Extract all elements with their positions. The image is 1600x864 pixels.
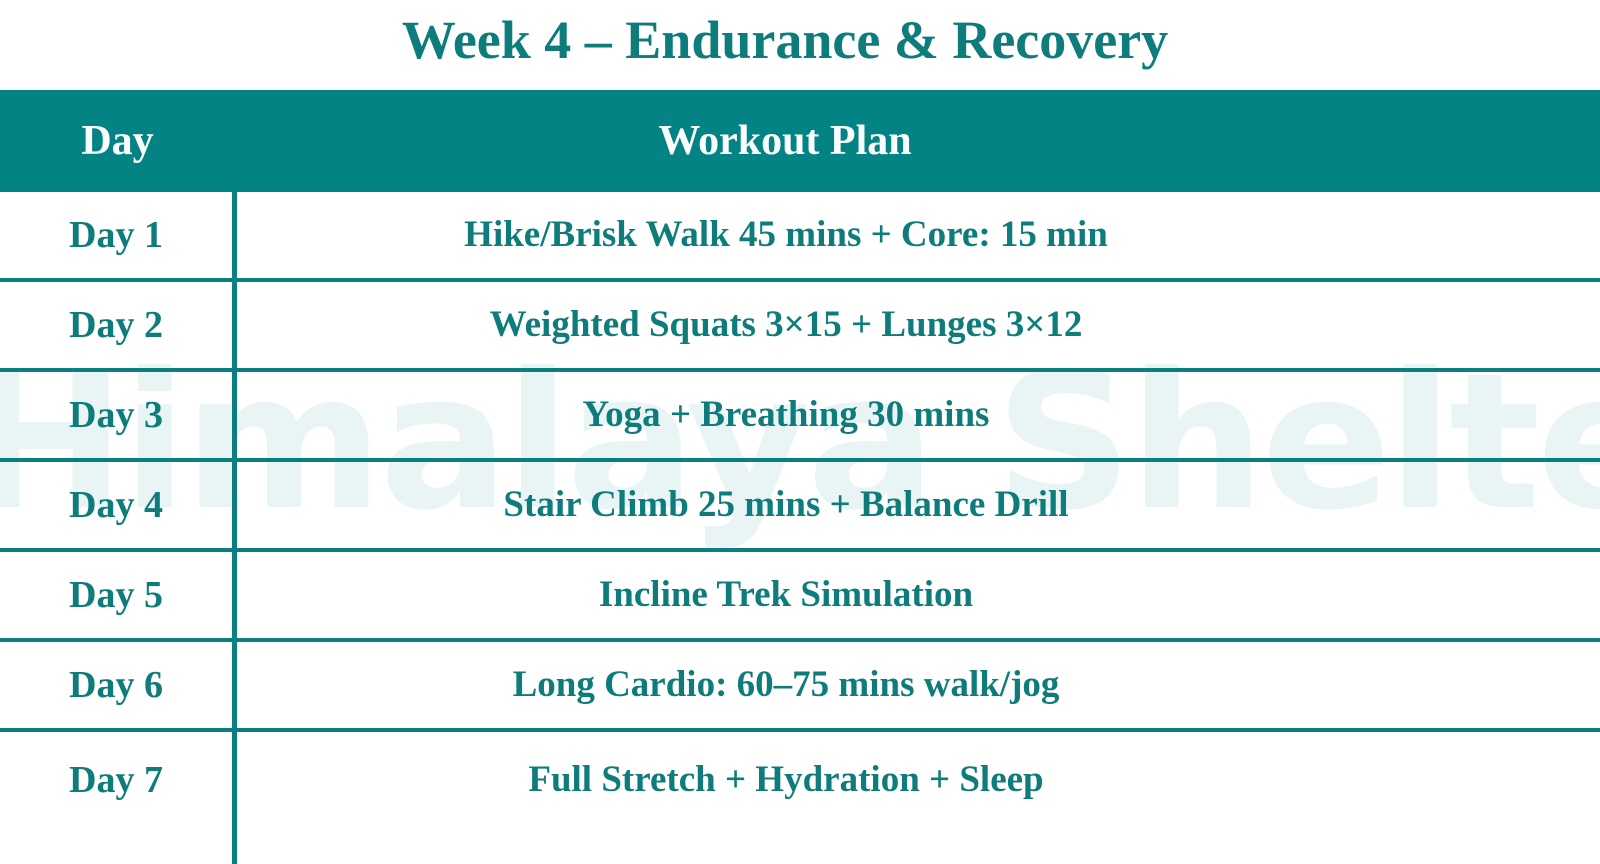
column-divider <box>232 192 237 864</box>
table-row: Day 5 Incline Trek Simulation <box>0 552 1600 642</box>
cell-workout-plan: Full Stretch + Hydration + Sleep <box>237 732 1335 828</box>
table-row: Day 4 Stair Climb 25 mins + Balance Dril… <box>0 462 1600 552</box>
cell-day: Day 6 <box>0 642 232 728</box>
cell-day: Day 7 <box>0 732 232 828</box>
column-header-workout-plan: Workout Plan <box>235 90 1335 192</box>
cell-day: Day 1 <box>0 192 232 278</box>
column-header-day: Day <box>0 90 235 192</box>
workout-plan-page: Himalaya Shelter Week 4 – Endurance & Re… <box>0 0 1600 864</box>
table-row: Day 3 Yoga + Breathing 30 mins <box>0 372 1600 462</box>
cell-workout-plan: Stair Climb 25 mins + Balance Drill <box>237 462 1335 548</box>
cell-workout-plan: Yoga + Breathing 30 mins <box>237 372 1335 458</box>
table-row: Day 7 Full Stretch + Hydration + Sleep <box>0 732 1600 828</box>
table-body: Day 1 Hike/Brisk Walk 45 mins + Core: 15… <box>0 192 1600 828</box>
cell-workout-plan: Hike/Brisk Walk 45 mins + Core: 15 min <box>237 192 1335 278</box>
cell-day: Day 4 <box>0 462 232 548</box>
cell-day: Day 3 <box>0 372 232 458</box>
table-row: Day 2 Weighted Squats 3×15 + Lunges 3×12 <box>0 282 1600 372</box>
page-title: Week 4 – Endurance & Recovery <box>0 4 1570 84</box>
cell-day: Day 2 <box>0 282 232 368</box>
cell-workout-plan: Incline Trek Simulation <box>237 552 1335 638</box>
table-row: Day 1 Hike/Brisk Walk 45 mins + Core: 15… <box>0 192 1600 282</box>
cell-workout-plan: Long Cardio: 60–75 mins walk/jog <box>237 642 1335 728</box>
cell-day: Day 5 <box>0 552 232 638</box>
cell-workout-plan: Weighted Squats 3×15 + Lunges 3×12 <box>237 282 1335 368</box>
table-header-row: Day Workout Plan <box>0 90 1600 192</box>
workout-schedule-table: Day Workout Plan Day 1 Hike/Brisk Walk 4… <box>0 90 1600 828</box>
table-row: Day 6 Long Cardio: 60–75 mins walk/jog <box>0 642 1600 732</box>
